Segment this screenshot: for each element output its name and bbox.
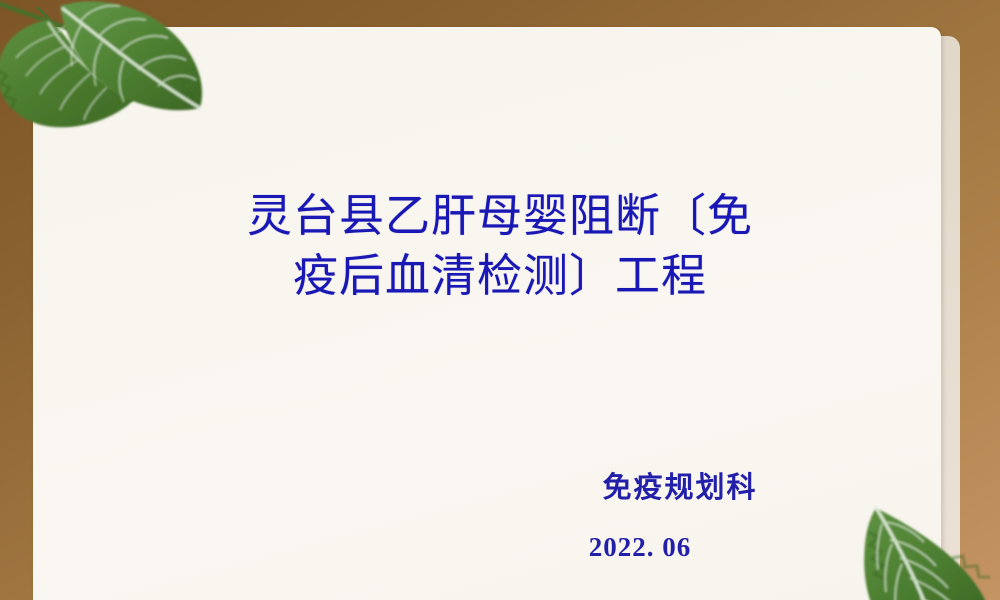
presentation-slide: 灵台县乙肝母婴阻断〔免 疫后血清检测〕工程 免疫规划科 2022. 06 — [0, 0, 1000, 600]
birch-leaf-icon — [852, 496, 1000, 600]
slide-date: 2022. 06 — [520, 532, 760, 563]
slide-subtitle-department: 免疫规划科 — [520, 464, 840, 506]
slide-title: 灵台县乙肝母婴阻断〔免 疫后血清检测〕工程 — [120, 186, 880, 306]
birch-leaves-icon — [0, 0, 226, 155]
